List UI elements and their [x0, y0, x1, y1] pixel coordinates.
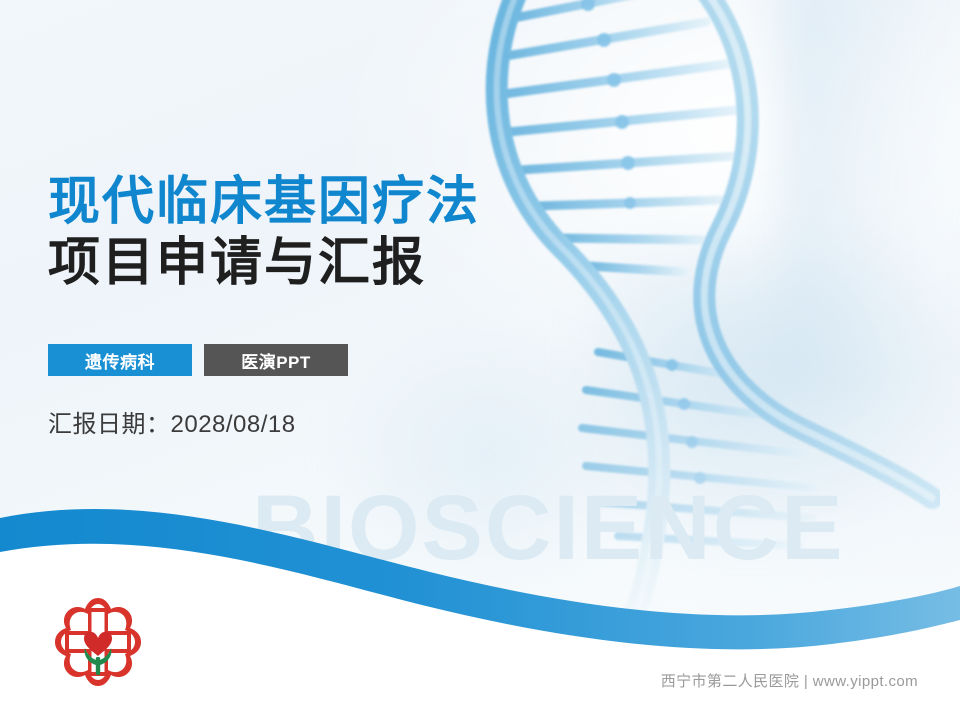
title-primary-line: 现代临床基因疗法 — [48, 172, 608, 233]
hospital-cross-heart-logo — [46, 596, 150, 688]
footer-credit: 西宁市第二人民医院 | www.yippt.com — [661, 670, 918, 691]
title-secondary-line: 项目申请与汇报 — [48, 233, 608, 294]
slide-title: 现代临床基因疗法 项目申请与汇报 — [48, 172, 608, 295]
tag-row: 遗传病科 医演PPT — [48, 344, 348, 376]
presentation-title-slide: BIOSCIENCE 现代临床基因疗法 项目申请与汇报 遗传病科 医演PPT 汇… — [0, 0, 960, 720]
tag-department[interactable]: 遗传病科 — [48, 344, 192, 376]
report-date-text: 汇报日期：2028/08/18 — [48, 404, 296, 439]
tag-template[interactable]: 医演PPT — [204, 344, 348, 376]
